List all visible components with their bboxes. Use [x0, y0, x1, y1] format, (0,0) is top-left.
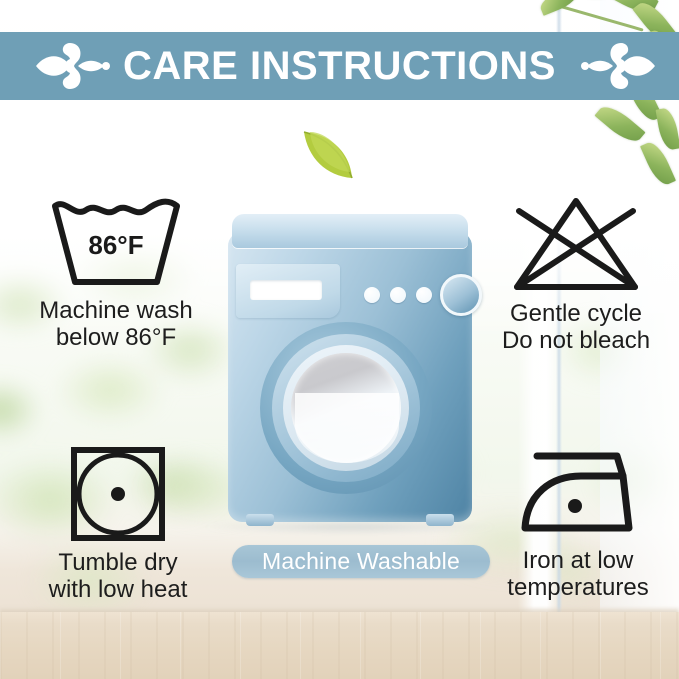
page-title: CARE INSTRUCTIONS	[123, 46, 556, 86]
crossed-triangle-icon	[503, 193, 649, 295]
iron-icon	[507, 450, 649, 542]
care-symbol-tumble-dry: Tumble dry with low heat	[20, 444, 216, 604]
control-indicator-dot	[364, 287, 380, 303]
fleur-de-lis-ornament-left	[34, 39, 112, 93]
tumble-dry-square-icon	[67, 444, 169, 544]
care-caption-tumble-dry: Tumble dry with low heat	[49, 550, 188, 604]
washing-machine-illustration	[228, 214, 472, 524]
care-caption-gentle-cycle: Gentle cycle Do not bleach	[502, 301, 650, 355]
detergent-drawer	[236, 264, 340, 318]
door-outer-ring	[260, 322, 432, 494]
machine-foot	[246, 514, 274, 526]
machine-washable-badge: Machine Washable	[232, 545, 490, 578]
care-symbol-iron: Iron at low temperatures	[480, 450, 676, 602]
care-caption-machine-wash: Machine wash below 86°F	[39, 298, 192, 352]
header-banner: CARE INSTRUCTIONS	[0, 32, 679, 100]
floating-leaf-icon	[300, 128, 356, 180]
program-knob	[440, 274, 482, 316]
detergent-drawer-slot	[250, 280, 322, 300]
wash-temperature-value: 86°F	[88, 230, 143, 260]
wooden-table-surface	[0, 612, 679, 679]
fleur-de-lis-ornament-right	[579, 39, 657, 93]
care-caption-iron: Iron at low temperatures	[507, 548, 648, 602]
care-symbol-machine-wash: 86°F Machine wash below 86°F	[18, 196, 214, 352]
leaf	[655, 107, 679, 151]
care-symbol-gentle-cycle-no-bleach: Gentle cycle Do not bleach	[478, 193, 674, 355]
door-glass	[291, 353, 401, 463]
leaf	[568, 0, 617, 3]
control-indicator-dot	[416, 287, 432, 303]
wash-tub-icon: 86°F	[41, 196, 191, 292]
machine-body	[228, 232, 472, 522]
machine-top-panel	[232, 214, 468, 248]
control-indicator-dot	[390, 287, 406, 303]
care-instructions-graphic: CARE INSTRUCTIONS 86°F Machine wash belo…	[0, 0, 679, 679]
door-mid-ring	[272, 334, 420, 482]
door-inner-ring	[283, 345, 409, 471]
machine-washable-badge-label: Machine Washable	[262, 550, 460, 573]
machine-foot	[426, 514, 454, 526]
